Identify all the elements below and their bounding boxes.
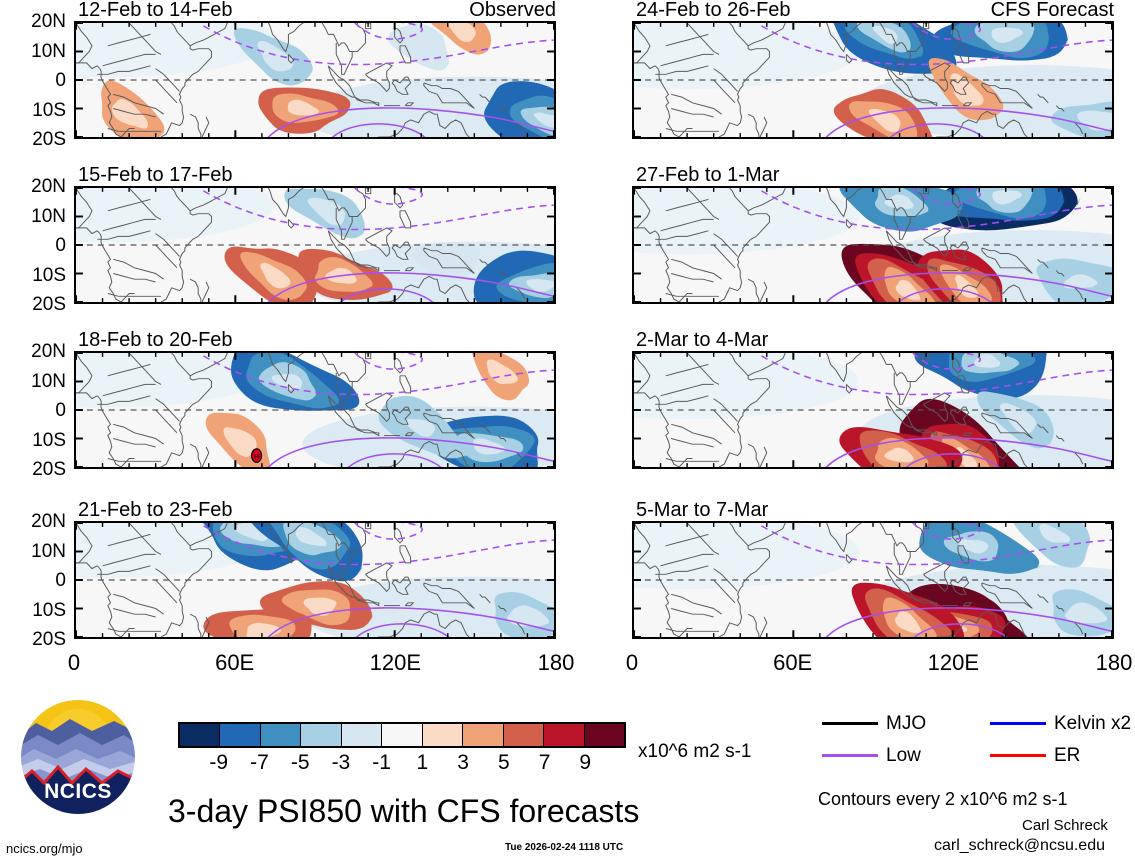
legend-label: Kelvin x2 [1054,714,1131,733]
x-axis-label: 60E [773,652,812,674]
y-axis-label: 10S [8,601,66,620]
y-axis-label: 10S [8,431,66,450]
colorbar-band-4 [342,724,382,746]
y-axis-label: 10S [8,101,66,120]
legend-item-er: ER [990,746,1080,765]
colorbar-tick-label: 9 [579,752,591,773]
map-panel-obs-2 [74,186,556,304]
legend-line-swatch [822,722,878,725]
colorbar-band-8 [504,724,544,746]
colorbar-band-0 [180,724,220,746]
panel-title-obs-2: 15-Feb to 17-Feb [78,165,233,185]
panel-title-obs-1: 12-Feb to 14-Feb [78,0,233,20]
colorbar-band-2 [261,724,301,746]
legend-line-swatch [990,754,1046,757]
colorbar-tick-label: 3 [457,752,469,773]
legend-label: ER [1054,746,1080,765]
author-email: carl_schreck@ncsu.edu [934,838,1105,854]
colorbar-band-10 [585,724,624,746]
map-panel-obs-4 [74,521,556,639]
y-axis-label: 0 [8,236,66,255]
colorbar-band-1 [220,724,260,746]
column-header-cfs-forecast: CFS Forecast [991,0,1114,20]
y-axis-label: 0 [8,401,66,420]
legend-line-swatch [990,722,1046,725]
contour-interval-note: Contours every 2 x10^6 m2 s-1 [818,790,1068,808]
legend-item-kelvin-x2: Kelvin x2 [990,714,1131,733]
y-axis-label: 20S [8,295,66,314]
colorbar-tick-labels: -9-7-5-3-113579 [178,752,626,776]
colorbar-tick-label: -7 [250,752,269,773]
colorbar-band-9 [544,724,584,746]
y-axis-label: 20S [8,630,66,649]
panel-title-cfs-3: 2-Mar to 4-Mar [636,330,768,350]
map-panel-cfs-1 [632,21,1114,139]
y-axis-label: 20N [8,512,66,531]
panel-title-obs-4: 21-Feb to 23-Feb [78,500,233,520]
legend-line-swatch [822,754,878,757]
y-axis-label: 20N [8,12,66,31]
x-axis-label: 60E [215,652,254,674]
site-url[interactable]: ncics.org/mjo [6,842,83,855]
colorbar-band-5 [382,724,422,746]
y-axis-label: 10N [8,542,66,561]
colorbar [178,722,626,748]
x-axis-label: 0 [68,652,80,674]
ncics-logo-text: NCICS [44,780,112,803]
column-header-observed: Observed [469,0,556,20]
y-axis-label: 0 [8,71,66,90]
colorbar-band-7 [463,724,503,746]
legend-item-mjo: MJO [822,714,926,733]
panel-title-cfs-2: 27-Feb to 1-Mar [636,165,779,185]
y-axis-label: 10N [8,207,66,226]
panel-title-cfs-4: 5-Mar to 7-Mar [636,500,768,520]
generation-timestamp: Tue 2026-02-24 1118 UTC [505,843,623,853]
y-axis-label: 10N [8,372,66,391]
colorbar-tick-label: -9 [209,752,228,773]
y-axis-label: 20S [8,130,66,149]
y-axis-label: 0 [8,571,66,590]
legend-item-low: Low [822,746,921,765]
colorbar-units-label: x10^6 m2 s-1 [638,742,751,761]
svg-text:H: H [254,454,259,461]
y-axis-label: 10S [8,266,66,285]
ncics-logo[interactable]: NCICS [18,697,138,817]
colorbar-band-3 [301,724,341,746]
x-axis-label: 120E [370,652,421,674]
x-axis-label: 180 [538,652,575,674]
map-panel-obs-3: H [74,351,556,469]
colorbar-tick-label: -1 [372,752,391,773]
map-panel-cfs-2 [632,186,1114,304]
colorbar-tick-label: 1 [417,752,429,773]
colorbar-tick-label: 7 [539,752,551,773]
y-axis-label: 10N [8,42,66,61]
panel-title-cfs-1: 24-Feb to 26-Feb [636,0,791,20]
legend-label: Low [886,746,921,765]
figure-title: 3-day PSI850 with CFS forecasts [168,795,639,827]
y-axis-label: 20N [8,342,66,361]
map-panel-cfs-4 [632,521,1114,639]
x-axis-label: 120E [928,652,979,674]
x-axis-label: 180 [1096,652,1133,674]
y-axis-label: 20N [8,177,66,196]
colorbar-tick-label: -5 [291,752,310,773]
map-panel-obs-1 [74,21,556,139]
author-name: Carl Schreck [1022,818,1108,833]
colorbar-band-6 [423,724,463,746]
x-axis-label: 0 [626,652,638,674]
legend-label: MJO [886,714,926,733]
panel-title-obs-3: 18-Feb to 20-Feb [78,330,233,350]
y-axis-label: 20S [8,460,66,479]
colorbar-tick-label: 5 [498,752,510,773]
map-panel-cfs-3 [632,351,1114,469]
cyclone-symbol: H [252,449,262,463]
colorbar-tick-label: -3 [332,752,351,773]
